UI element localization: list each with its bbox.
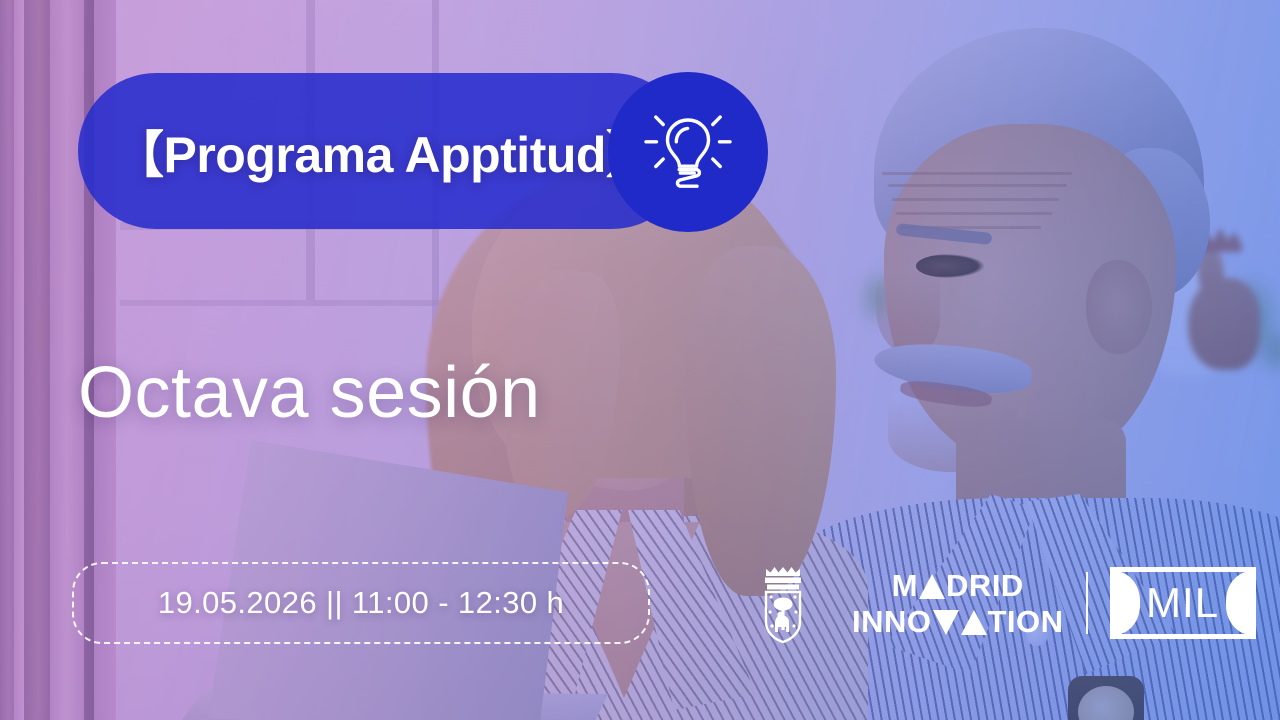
program-badge-label: 【Programa Apptitud】 bbox=[114, 115, 655, 187]
madrid-innovation-logo: M DRID INNO TION bbox=[852, 570, 1064, 637]
logo-row: M DRID INNO TION MIL bbox=[758, 560, 1256, 646]
lightbulb-badge bbox=[608, 72, 768, 232]
triangle-down-icon bbox=[933, 610, 959, 635]
mil-logo-text: MIL bbox=[1146, 579, 1219, 627]
page-title: Octava sesión bbox=[78, 352, 541, 434]
program-badge-pill: 【Programa Apptitud】 bbox=[78, 73, 690, 229]
madrid-logo-text-drid: DRID bbox=[946, 570, 1024, 601]
lightbulb-icon bbox=[636, 100, 740, 204]
schedule-box: 19.05.2026 || 11:00 - 12:30 h bbox=[72, 562, 650, 644]
logo-divider bbox=[1086, 572, 1088, 634]
schedule-text: 19.05.2026 || 11:00 - 12:30 h bbox=[158, 585, 564, 621]
innovation-logo-text-inno: INNO bbox=[852, 606, 932, 637]
poster-canvas: 【Programa Apptitud】 Oc bbox=[0, 0, 1280, 720]
triangle-up-icon bbox=[961, 610, 987, 635]
madrid-logo-text-m: M bbox=[892, 570, 918, 601]
bracket-left-shape bbox=[1114, 571, 1140, 635]
mil-logo: MIL bbox=[1110, 567, 1256, 639]
triangle-up-icon bbox=[919, 574, 945, 599]
bracket-right-shape bbox=[1226, 571, 1252, 635]
madrid-coat-of-arms-icon bbox=[758, 560, 814, 646]
innovation-logo-text-tion: TION bbox=[988, 606, 1064, 637]
